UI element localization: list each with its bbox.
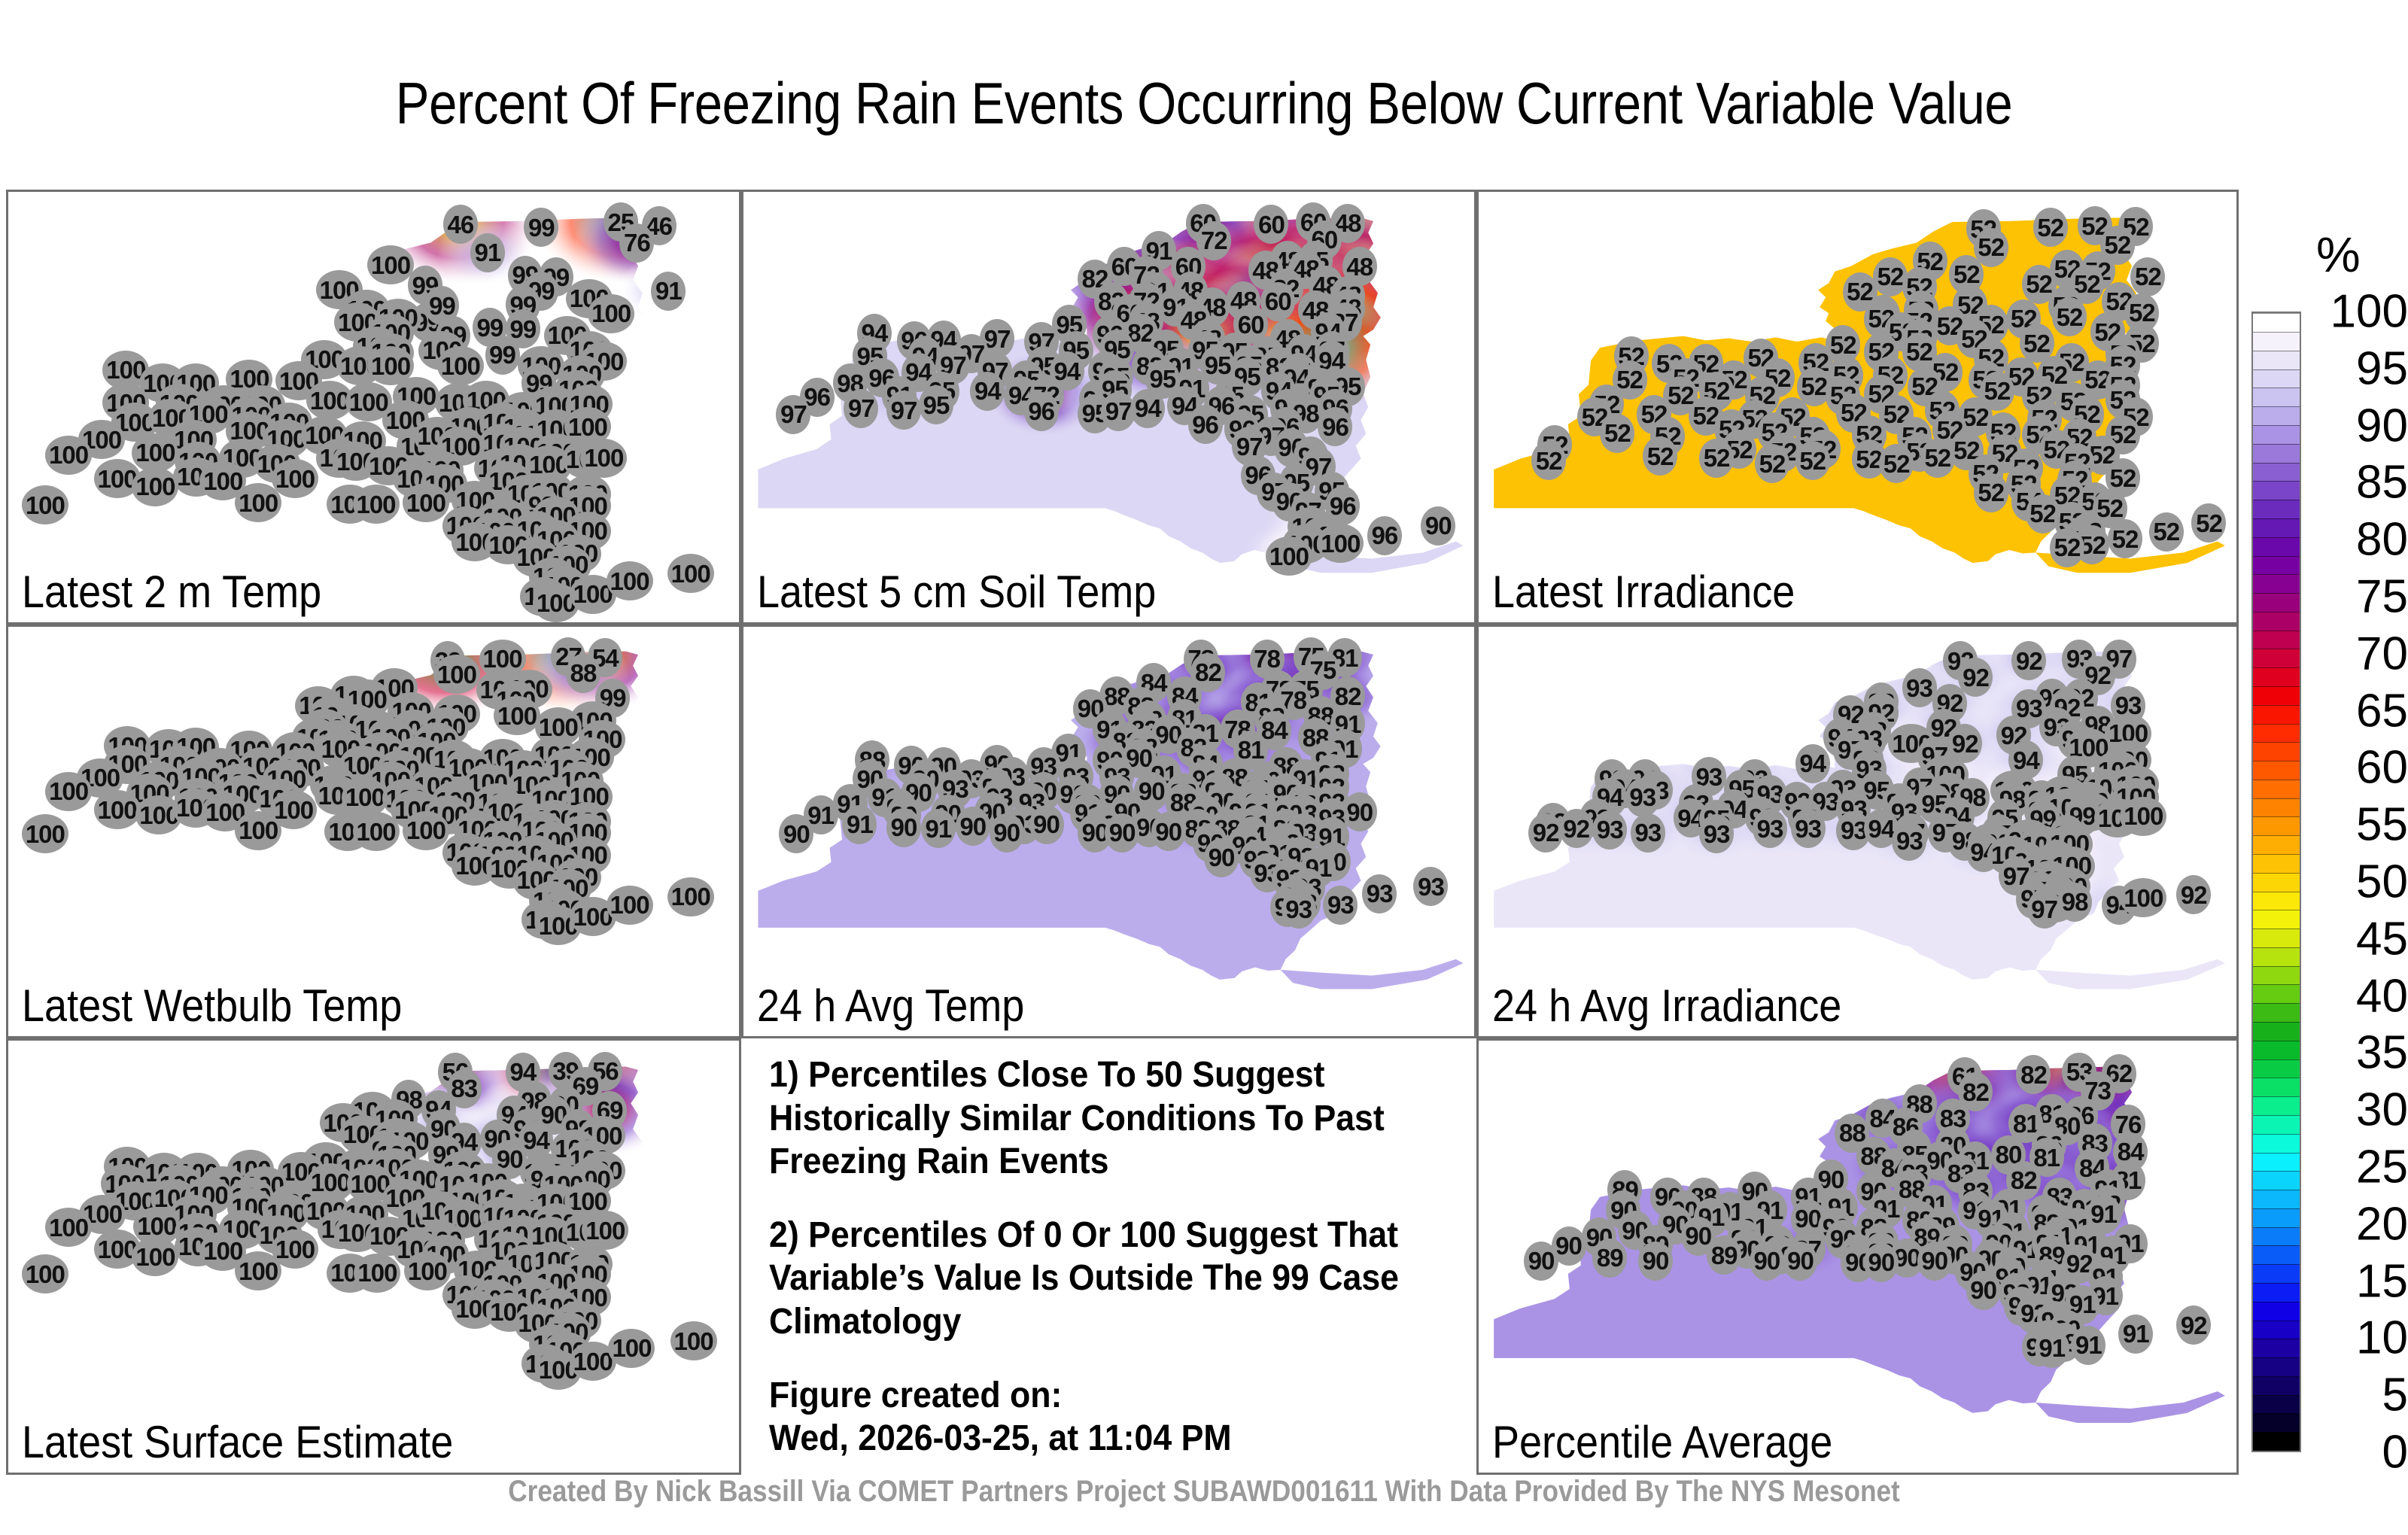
panel-label-24h-avg-irradiance: 24 h Avg Irradiance xyxy=(1492,980,1841,1032)
colorbar-band xyxy=(2253,705,2300,724)
panel-label-latest-surface-estimate: Latest Surface Estimate xyxy=(22,1416,453,1468)
colorbar-tick-80: 80 xyxy=(2356,513,2408,567)
colorbar-tick-30: 30 xyxy=(2356,1084,2408,1137)
station-value: 52 xyxy=(1531,441,1566,480)
colorbar-tick-90: 90 xyxy=(2356,399,2408,452)
colorbar-tick-65: 65 xyxy=(2356,684,2408,737)
station-value: 94 xyxy=(1130,389,1165,428)
station-value: 100 xyxy=(45,772,92,811)
panel-label-latest-2m-temp: Latest 2 m Temp xyxy=(22,566,321,618)
panel-latest-wetbulb-temp[interactable]: 3910027541008810010010099100100100100100… xyxy=(6,625,741,1038)
note-2: 2) Percentiles Of 0 Or 100 Suggest That … xyxy=(769,1214,1434,1344)
colorbar-band xyxy=(2253,929,2300,947)
station-value: 52 xyxy=(2052,297,2087,336)
colorbar-band xyxy=(2253,1134,2300,1153)
colorbar-band xyxy=(2253,742,2300,761)
colorbar-band xyxy=(2253,1096,2300,1115)
colorbar-tick-70: 70 xyxy=(2356,627,2408,680)
panel-label-24h-avg-temp: 24 h Avg Temp xyxy=(757,980,1024,1032)
station-value: 100 xyxy=(494,696,540,735)
station-value: 52 xyxy=(1974,473,2008,512)
station-value: 95 xyxy=(919,385,953,424)
station-value: 100 xyxy=(272,459,318,498)
colorbar-band xyxy=(2253,406,2300,425)
station-value: 100 xyxy=(22,485,68,524)
station-value: 90 xyxy=(886,808,921,847)
map-24h-avg-irradiance: 9292939792929392929392929293929298929293… xyxy=(1479,627,2236,1036)
station-value: 100 xyxy=(433,655,480,694)
colorbar-band xyxy=(2253,1321,2300,1339)
colorbar-band xyxy=(2253,1171,2300,1190)
colorbar-band xyxy=(2253,724,2300,743)
station-value: 90 xyxy=(1917,1242,1952,1281)
station-value: 92 xyxy=(1528,813,1563,853)
panel-label-latest-irradiance: Latest Irradiance xyxy=(1492,566,1795,618)
colorbar-band xyxy=(2253,481,2300,500)
station-value: 93 xyxy=(1282,889,1316,929)
colorbar-band xyxy=(2253,444,2300,463)
station-value: 90 xyxy=(1105,813,1139,853)
colorbar-unit-label: % xyxy=(2316,226,2361,283)
station-value: 93 xyxy=(1323,886,1358,925)
station-value: 100 xyxy=(235,1251,281,1290)
map-percentile-average: 6182536282738881867684838180888686838980… xyxy=(1479,1041,2236,1473)
station-value: 90 xyxy=(1966,1271,2001,1310)
colorbar-band xyxy=(2253,892,2300,910)
station-value: 91 xyxy=(2035,1329,2069,1368)
map-latest-irradiance: 5252525252525252525252525252525252525252… xyxy=(1479,192,2236,622)
page-title: Percent Of Freezing Rain Events Occurrin… xyxy=(169,69,2239,138)
station-value: 90 xyxy=(1524,1242,1558,1281)
station-value: 91 xyxy=(470,233,505,272)
colorbar-band xyxy=(2253,425,2300,444)
station-value: 100 xyxy=(667,554,714,593)
colorbar-tick-85: 85 xyxy=(2356,456,2408,509)
station-value: 52 xyxy=(1755,444,1789,483)
colorbar xyxy=(2251,312,2301,1452)
station-value: 99 xyxy=(485,336,520,375)
station-value: 90 xyxy=(1029,805,1064,844)
station-value: 93 xyxy=(1699,814,1734,853)
station-value: 100 xyxy=(403,483,449,522)
colorbar-tick-45: 45 xyxy=(2356,912,2408,965)
colorbar-tick-0: 0 xyxy=(2382,1426,2408,1479)
colorbar-band xyxy=(2253,1022,2300,1041)
station-value: 92 xyxy=(2176,875,2211,914)
colorbar-band xyxy=(2253,835,2300,854)
station-value: 96 xyxy=(1318,407,1352,446)
colorbar-band xyxy=(2253,667,2300,686)
station-value: 100 xyxy=(354,1254,400,1293)
station-value: 91 xyxy=(651,272,686,311)
colorbar-band xyxy=(2253,966,2300,985)
station-value: 91 xyxy=(2118,1315,2153,1354)
colorbar-band xyxy=(2253,500,2300,518)
map-latest-2m-temp: 4699254691761009999999991100100999999100… xyxy=(8,192,739,622)
colorbar-band xyxy=(2253,518,2300,537)
station-value: 100 xyxy=(132,467,178,506)
colorbar-tick-75: 75 xyxy=(2356,570,2408,624)
station-value: 52 xyxy=(1600,414,1634,453)
station-value: 88 xyxy=(566,654,600,693)
station-value: 90 xyxy=(956,807,990,846)
station-value: 100 xyxy=(1266,536,1312,576)
colorbar-band xyxy=(2253,631,2300,649)
colorbar-band xyxy=(2253,1227,2300,1246)
colorbar-band xyxy=(2253,1041,2300,1059)
colorbar-band xyxy=(2253,1302,2300,1321)
station-value: 52 xyxy=(2050,528,2084,567)
station-value: 92 xyxy=(2011,641,2046,680)
station-value: 100 xyxy=(403,811,449,850)
station-value: 89 xyxy=(1592,1239,1627,1278)
station-value: 91 xyxy=(842,805,877,844)
station-value: 91 xyxy=(921,809,956,848)
colorbar-band xyxy=(2253,612,2300,631)
station-value: 52 xyxy=(1795,441,1830,480)
station-value: 89 xyxy=(1707,1236,1741,1275)
station-value: 97 xyxy=(776,395,810,434)
station-value: 52 xyxy=(2149,512,2184,552)
map-latest-5cm-soil-temp: 6060604872609148956060484848827291488248… xyxy=(743,192,1474,622)
colorbar-band xyxy=(2253,1264,2300,1283)
station-value: 94 xyxy=(1795,744,1830,783)
station-value: 92 xyxy=(2176,1306,2211,1345)
station-value: 92 xyxy=(1559,809,1594,848)
colorbar-tick-25: 25 xyxy=(2356,1141,2408,1194)
station-value: 46 xyxy=(443,205,478,244)
station-value: 90 xyxy=(1421,506,1455,546)
colorbar-band xyxy=(2253,369,2300,388)
colorbar-band xyxy=(2253,332,2300,351)
station-value: 97 xyxy=(886,391,921,430)
created-on-label: Figure created on: xyxy=(769,1375,1062,1415)
colorbar-band xyxy=(2253,556,2300,575)
map-latest-surface-estimate: 5694395683699898906910094949010010090949… xyxy=(8,1041,739,1473)
station-value: 93 xyxy=(1791,809,1826,848)
station-value: 100 xyxy=(2120,878,2166,917)
colorbar-ticks: 0510152025303540455055606570758085909510… xyxy=(2309,312,2408,1452)
colorbar-band xyxy=(2253,1432,2300,1451)
map-24h-avg-temp: 7878758182758478758288847890888188908182… xyxy=(743,627,1474,1036)
station-value: 100 xyxy=(607,886,653,925)
panel-24h-avg-temp[interactable]: 7878758182758478758288847890888188908182… xyxy=(741,625,1476,1038)
station-value: 60 xyxy=(1254,205,1288,244)
station-value: 90 xyxy=(1783,1242,1817,1281)
colorbar-tick-95: 95 xyxy=(2356,342,2408,395)
notes-block: 1) Percentiles Close To 50 Suggest Histo… xyxy=(769,1053,1434,1461)
station-value: 93 xyxy=(1625,778,1660,817)
station-value: 91 xyxy=(2071,1326,2105,1365)
station-value: 96 xyxy=(1024,392,1059,431)
station-value: 100 xyxy=(588,294,634,333)
station-value: 90 xyxy=(1151,812,1186,851)
colorbar-band xyxy=(2253,1208,2300,1227)
colorbar-band xyxy=(2253,1413,2300,1432)
station-value: 100 xyxy=(45,1208,92,1247)
station-value: 100 xyxy=(94,790,141,829)
colorbar-tick-100: 100 xyxy=(2330,285,2408,339)
station-value: 90 xyxy=(1638,1242,1673,1281)
colorbar-band xyxy=(2253,351,2300,369)
station-value: 100 xyxy=(22,814,68,853)
created-on-value: Wed, 2026-03-25, at 11:04 PM xyxy=(769,1418,1232,1458)
colorbar-band xyxy=(2253,1283,2300,1302)
colorbar-band xyxy=(2253,854,2300,873)
colorbar-band xyxy=(2253,1153,2300,1172)
colorbar-band xyxy=(2253,593,2300,612)
station-value: 100 xyxy=(342,778,388,817)
colorbar-band xyxy=(2253,1003,2300,1022)
colorbar-tick-50: 50 xyxy=(2356,856,2408,909)
station-value: 76 xyxy=(619,223,654,263)
station-value: 52 xyxy=(1879,444,1914,483)
station-value: 100 xyxy=(132,1237,178,1276)
station-value: 100 xyxy=(608,1329,655,1368)
panel-latest-2m-temp[interactable]: 4699254691761009999999991100100999999100… xyxy=(6,190,741,625)
colorbar-band xyxy=(2253,388,2300,406)
station-value: 93 xyxy=(1753,809,1787,848)
colorbar-tick-15: 15 xyxy=(2356,1254,2408,1308)
station-value: 97 xyxy=(2027,889,2062,929)
panel-latest-surface-estimate[interactable]: 5694395683699898906910094949010010090949… xyxy=(6,1038,741,1475)
colorbar-band xyxy=(2253,1190,2300,1208)
station-value: 90 xyxy=(779,814,813,853)
colorbar-band xyxy=(2253,873,2300,892)
map-latest-wetbulb-temp: 3910027541008810010010099100100100100100… xyxy=(8,627,739,1036)
panel-latest-irradiance[interactable]: 5252525252525252525252525252525252525252… xyxy=(1476,190,2239,625)
colorbar-band xyxy=(2253,1115,2300,1134)
credit-line: Created By Nick Bassill Via COMET Partne… xyxy=(144,1475,2264,1509)
station-value: 52 xyxy=(2191,503,2226,543)
colorbar-band xyxy=(2253,984,2300,1003)
colorbar-band xyxy=(2253,1376,2300,1395)
station-value: 100 xyxy=(404,1251,451,1290)
station-value: 93 xyxy=(1592,810,1627,850)
note-1: 1) Percentiles Close To 50 Suggest Histo… xyxy=(769,1053,1434,1184)
station-value: 99 xyxy=(524,208,558,247)
colorbar-band xyxy=(2253,574,2300,593)
colorbar-band xyxy=(2253,1245,2300,1264)
station-value: 94 xyxy=(970,372,1005,411)
station-value: 90 xyxy=(1750,1242,1784,1281)
station-value: 100 xyxy=(235,483,281,522)
station-value: 93 xyxy=(1631,813,1665,853)
station-value: 100 xyxy=(670,1321,717,1360)
colorbar-tick-20: 20 xyxy=(2356,1197,2408,1251)
station-value: 93 xyxy=(1362,874,1397,913)
colorbar-band xyxy=(2253,1357,2300,1376)
station-value: 100 xyxy=(235,811,281,850)
colorbar-tick-60: 60 xyxy=(2356,741,2408,795)
colorbar-tick-40: 40 xyxy=(2356,969,2408,1023)
colorbar-tick-10: 10 xyxy=(2356,1312,2408,1365)
station-value: 52 xyxy=(1699,439,1734,478)
colorbar-tick-5: 5 xyxy=(2382,1369,2408,1422)
station-value: 98 xyxy=(2057,883,2092,922)
colorbar-band xyxy=(2253,649,2300,667)
station-value: 52 xyxy=(1643,436,1677,476)
station-value: 52 xyxy=(2130,257,2165,296)
station-value: 100 xyxy=(580,439,627,478)
station-value: 100 xyxy=(367,245,414,284)
colorbar-band xyxy=(2253,816,2300,835)
colorbar-band xyxy=(2253,1078,2300,1096)
colorbar-tick-55: 55 xyxy=(2356,798,2408,852)
station-value: 100 xyxy=(353,812,400,851)
panel-label-latest-wetbulb-temp: Latest Wetbulb Temp xyxy=(22,980,402,1032)
station-value: 100 xyxy=(2120,797,2166,836)
station-value: 100 xyxy=(667,877,714,916)
colorbar-band xyxy=(2253,947,2300,966)
station-value: 97 xyxy=(844,389,878,428)
station-value: 52 xyxy=(2108,519,2142,558)
colorbar-band xyxy=(2253,686,2300,705)
station-value: 82 xyxy=(2016,1055,2051,1094)
colorbar-band xyxy=(2253,780,2300,798)
panel-24h-avg-irradiance[interactable]: 9292939792929392929392929293929298929293… xyxy=(1476,625,2239,1038)
colorbar-band xyxy=(2253,910,2300,929)
station-value: 100 xyxy=(353,485,400,524)
station-value: 100 xyxy=(1317,524,1364,563)
colorbar-band xyxy=(2253,313,2300,332)
station-value: 100 xyxy=(45,436,92,475)
colorbar-tick-35: 35 xyxy=(2356,1026,2408,1080)
panel-latest-5cm-soil-temp[interactable]: 6060604872609148956060484848827291488248… xyxy=(741,190,1476,625)
colorbar-band xyxy=(2253,1059,2300,1078)
panel-label-percentile-average: Percentile Average xyxy=(1492,1416,1832,1468)
station-value: 96 xyxy=(1367,516,1402,555)
station-value: 52 xyxy=(1920,439,1955,478)
station-value: 100 xyxy=(22,1254,68,1293)
colorbar-band xyxy=(2253,798,2300,817)
station-value: 93 xyxy=(1413,867,1448,906)
station-value: 93 xyxy=(1902,668,1937,707)
station-value: 100 xyxy=(437,346,484,385)
colorbar-band xyxy=(2253,1395,2300,1414)
panel-label-latest-5cm-soil-temp: Latest 5 cm Soil Temp xyxy=(757,566,1156,618)
colorbar-band xyxy=(2253,463,2300,482)
station-value: 90 xyxy=(990,813,1024,853)
colorbar-band xyxy=(2253,761,2300,780)
colorbar-band xyxy=(2253,1339,2300,1357)
station-value: 96 xyxy=(1188,405,1223,444)
station-value: 100 xyxy=(607,561,653,600)
station-value: 90 xyxy=(1864,1243,1899,1282)
colorbar-band xyxy=(2253,537,2300,556)
station-value: 93 xyxy=(1892,822,1926,861)
panel-percentile-average[interactable]: 6182536282738881867684838180888686838980… xyxy=(1476,1038,2239,1475)
station-value: 90 xyxy=(1204,838,1239,877)
station-value: 52 xyxy=(2033,208,2068,247)
